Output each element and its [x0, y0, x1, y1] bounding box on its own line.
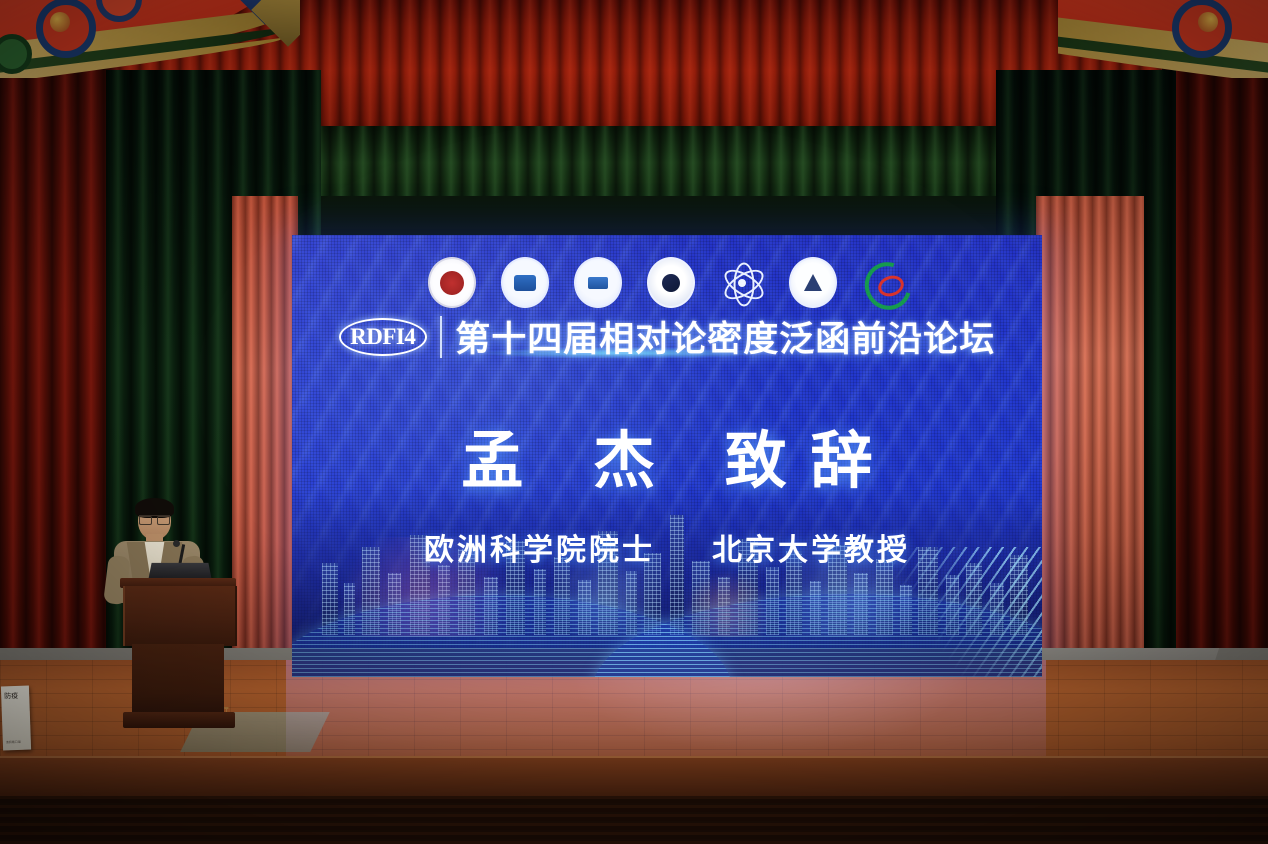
right-outer-red-curtain [1162, 30, 1268, 730]
peking-university-emblem [428, 257, 476, 308]
speaker-name-heading: 孟 杰 致辞 [292, 410, 1042, 500]
floor-placard-sign: 防疫 请佩戴口罩 [1, 686, 31, 751]
green-g-logo-emblem [862, 259, 906, 306]
university-emblem-navy-circle [647, 257, 695, 308]
stage-front-edge [0, 756, 1268, 800]
forum-title-row: RDFI4 第十四届相对论密度泛函前沿论坛 [292, 311, 1042, 362]
left-salmon-curtain [232, 196, 298, 694]
speaker-role-line: 欧洲科学院院士 北京大学教授 [292, 525, 1042, 569]
university-emblem-blue-ring [574, 257, 622, 308]
title-divider [440, 316, 443, 358]
podium-front-panel: 广东省科学技术厅 GUANGDONG PROVINCE [123, 586, 237, 646]
ornament-swirl-center-icon [50, 12, 70, 32]
podium-and-speaker: 广东省科学技术厅 GUANGDONG PROVINCE [100, 498, 235, 738]
microphone-head-icon [173, 540, 180, 547]
university-emblem-blue-wave [501, 257, 549, 308]
organizer-emblem-row [292, 257, 1042, 308]
placard-text: 防疫 [4, 692, 26, 702]
ornament-swirl-center-icon [1198, 12, 1218, 32]
atom-institute-emblem [720, 259, 764, 306]
cityscape-graphic [292, 487, 1042, 677]
rdfi-logo: RDFI4 [339, 316, 427, 358]
stage-photograph: RDFI4 第十四届相对论密度泛函前沿论坛 孟 杰 致辞 欧洲科学院院士 北京大… [0, 0, 1268, 844]
speaker-role-right: 北京大学教授 [712, 533, 910, 568]
podium-body [132, 644, 224, 714]
left-decorative-arch-ornament [0, 0, 300, 78]
placard-subtext: 请佩戴口罩 [6, 740, 28, 745]
right-decorative-arch-ornament [1058, 0, 1268, 78]
forum-title-text: 第十四届相对论密度泛函前沿论坛 [455, 311, 995, 362]
speaker-glasses-icon [139, 515, 170, 523]
podium-base [123, 712, 235, 728]
stage-apron-slats [0, 796, 1268, 844]
university-emblem-pagoda [789, 257, 837, 308]
rdfi-logo-text: RDFI4 [350, 324, 415, 350]
right-salmon-curtain [1036, 196, 1144, 696]
speaker-role-left: 欧洲科学院院士 [424, 533, 655, 568]
led-presentation-screen: RDFI4 第十四届相对论密度泛函前沿论坛 孟 杰 致辞 欧洲科学院院士 北京大… [292, 235, 1042, 677]
